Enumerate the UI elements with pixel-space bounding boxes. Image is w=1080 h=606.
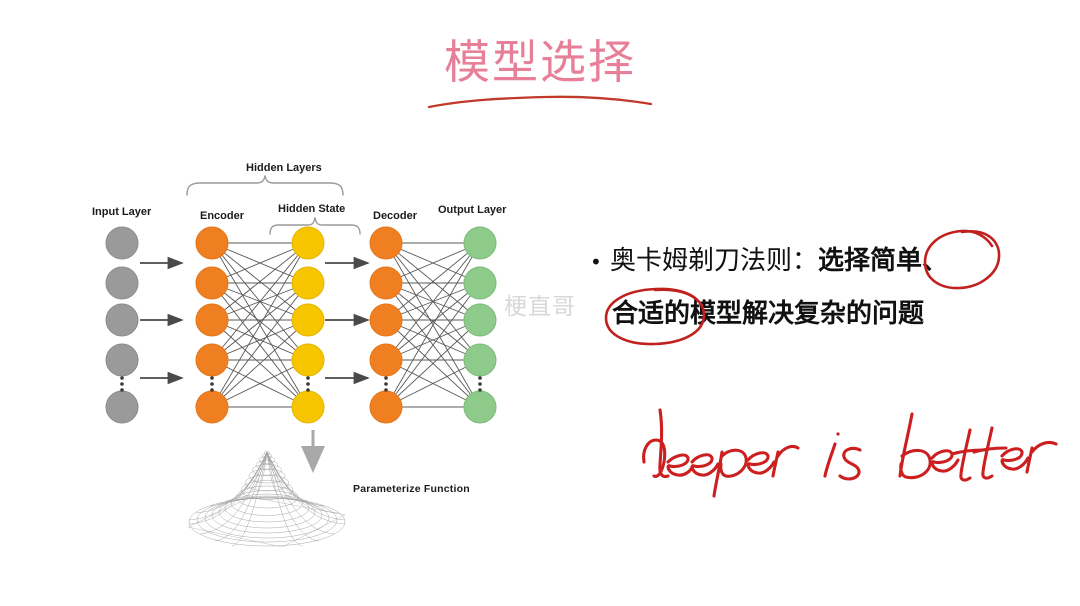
diagram-label-output-layer: Output Layer — [438, 204, 506, 216]
bullet-item-1: •奥卡姆剃刀法则：选择简单、 — [590, 235, 1060, 288]
hidden-layers-brace — [187, 176, 343, 195]
bullet-text-bold: 选择简单、 — [818, 246, 948, 276]
arrows-hidden-to-decoder — [325, 263, 368, 378]
bullet-marker-icon: • — [590, 236, 610, 288]
handwriting-annotation-deeper-is-better — [630, 400, 1060, 510]
title-underline-annotation — [425, 93, 655, 113]
page-title: 模型选择 — [0, 34, 1080, 90]
diagram-label-encoder: Encoder — [200, 210, 244, 222]
ellipsis-output — [478, 376, 482, 392]
diagram-label-decoder: Decoder — [373, 210, 417, 222]
ellipsis-decoder — [384, 376, 388, 392]
ellipsis-encoder — [210, 376, 214, 392]
bullet-list: •奥卡姆剃刀法则：选择简单、 合适的模型解决复杂的问题 — [590, 235, 1060, 340]
ellipsis-hidden-state — [306, 376, 310, 392]
diagram-label-parameterize-function: Parameterize Function — [353, 483, 470, 495]
diagram-label-input-layer: Input Layer — [92, 206, 151, 218]
gaussian-surface-plot — [188, 452, 345, 547]
diagram-label-hidden-layers: Hidden Layers — [246, 162, 322, 174]
neural-network-diagram: Hidden Layers Hidden State Input Layer E… — [60, 150, 560, 580]
ellipsis-input — [120, 376, 124, 392]
bullet-item-1-continued: 合适的模型解决复杂的问题 — [612, 288, 1060, 340]
diagram-label-hidden-state: Hidden State — [278, 203, 345, 215]
layer-nodes-input — [106, 227, 138, 423]
bullet-text-plain: 奥卡姆剃刀法则： — [610, 246, 818, 276]
arrows-input-to-encoder — [140, 263, 182, 378]
bullet-text-bold-line2: 合适的模型解决复杂的问题 — [612, 299, 924, 329]
